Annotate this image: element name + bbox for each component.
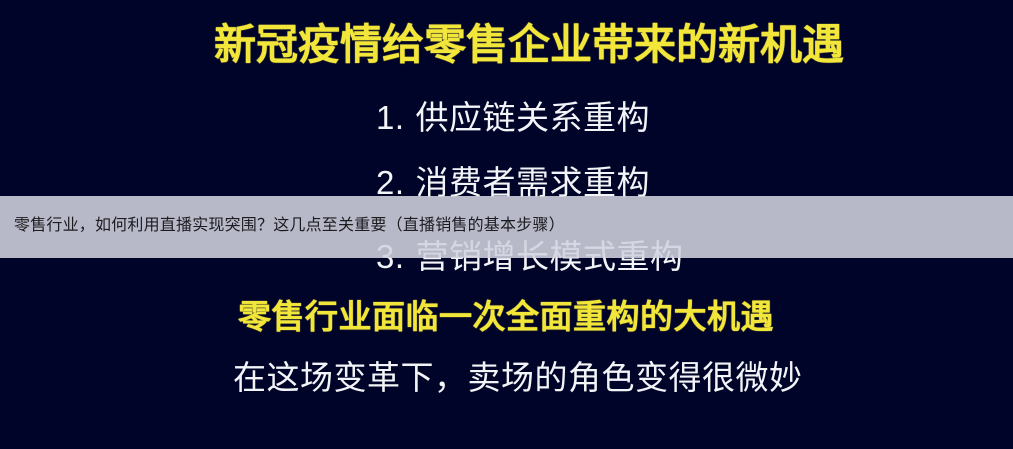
list-item-label: 供应链关系重构 xyxy=(416,99,651,136)
list-item-number: 2. xyxy=(376,166,405,199)
closing-line: 在这场变革下，卖场的角色变得很微妙 xyxy=(233,361,803,394)
list-item-number: 1. xyxy=(376,101,405,134)
emphasis-line: 零售行业面临一次全面重构的大机遇 xyxy=(238,300,774,333)
caption-overlay-text: 零售行业，如何利用直播实现突围？这几点至关重要（直播销售的基本步骤） xyxy=(14,211,565,235)
list-item: 1.供应链关系重构 xyxy=(376,101,650,134)
slide-title: 新冠疫情给零售企业带来的新机遇 xyxy=(214,24,844,66)
list-item: 2.消费者需求重构 xyxy=(376,166,650,199)
presentation-slide: 新冠疫情给零售企业带来的新机遇 1.供应链关系重构 2.消费者需求重构 3.营销… xyxy=(0,0,1013,449)
